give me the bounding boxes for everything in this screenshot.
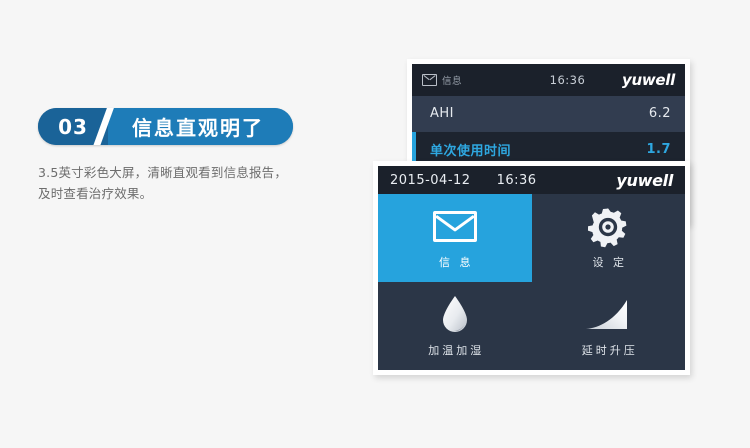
tile-ramp[interactable]: 延时升压: [532, 282, 686, 370]
home-menu-tile-grid: 信 息 设 定: [378, 194, 685, 370]
tile-label: 延时升压: [579, 342, 638, 358]
info-screen-statusbar: 信息 16:36 yuwell: [412, 64, 685, 96]
info-row-label: AHI: [430, 106, 649, 121]
envelope-icon: [433, 207, 477, 247]
device-screens-group: 信息 16:36 yuwell AHI 6.2 单次使用时间 1.7 2015-…: [0, 0, 750, 448]
yuwell-logo: yuwell: [616, 171, 673, 190]
tile-settings[interactable]: 设 定: [532, 194, 686, 282]
tile-label: 信 息: [436, 254, 474, 270]
tile-humidifier[interactable]: 加温加湿: [378, 282, 532, 370]
water-drop-icon: [440, 295, 470, 335]
info-statusbar-label: 信息: [442, 73, 462, 87]
info-row-label: 单次使用时间: [430, 140, 646, 159]
envelope-icon: [422, 74, 437, 86]
tile-label: 加温加湿: [425, 342, 484, 358]
info-row-ahi[interactable]: AHI 6.2: [412, 96, 685, 132]
status-date: 2015-04-12: [390, 173, 471, 188]
info-statusbar-left: 信息: [422, 73, 532, 87]
ramp-icon: [585, 295, 631, 335]
info-statusbar-time: 16:36: [532, 73, 603, 87]
gear-icon: [587, 207, 629, 247]
tile-information[interactable]: 信 息: [378, 194, 532, 282]
tile-label: 设 定: [590, 254, 628, 270]
status-time: 16:36: [497, 173, 537, 188]
info-row-value: 1.7: [646, 142, 671, 157]
home-menu-body: 2015-04-12 16:36 yuwell 信 息: [378, 166, 685, 370]
yuwell-logo: yuwell: [603, 71, 675, 89]
home-menu-screen: 2015-04-12 16:36 yuwell 信 息: [373, 161, 690, 375]
home-menu-statusbar: 2015-04-12 16:36 yuwell: [378, 166, 685, 194]
info-row-value: 6.2: [649, 106, 671, 121]
